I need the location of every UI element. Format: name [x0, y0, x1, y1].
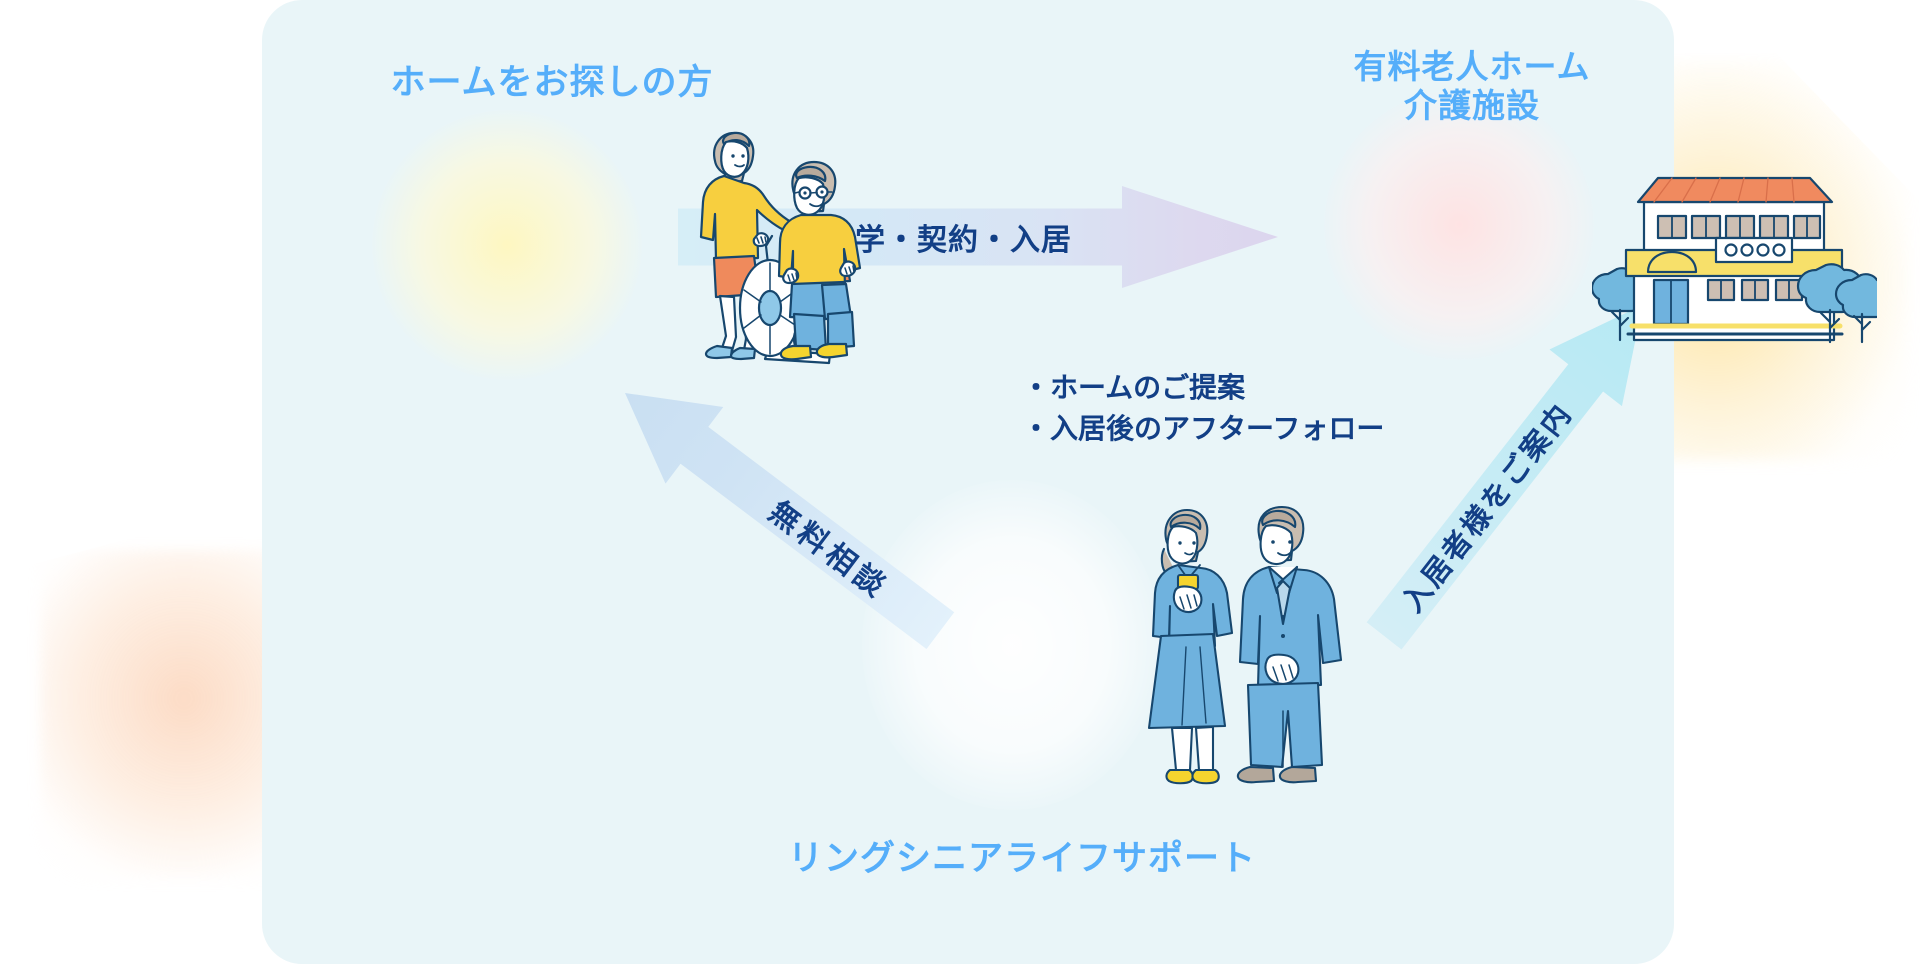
- elderly-couple-wheelchair-illustration: [662, 118, 877, 368]
- diagram-canvas: 見学・契約・入居 無料相談 入居者様をご案内 ・ホームのご提案 ・入居後のアフタ…: [0, 0, 1920, 964]
- arrow-left-diagonal-label: 無料相談: [596, 355, 969, 669]
- background-watercolor-left: [0, 520, 300, 964]
- glow-facility: [1324, 90, 1594, 360]
- peach-watercolor-blob: [40, 550, 300, 880]
- support-staff-couple-illustration: [1142, 505, 1347, 795]
- service-list-item: ・ホームのご提案: [1022, 368, 1452, 409]
- care-facility-building-illustration: [1592, 162, 1877, 352]
- node-title-facility: 有料老人ホーム 介護施設: [1262, 48, 1682, 126]
- glow-seeker: [372, 110, 642, 380]
- service-list: ・ホームのご提案 ・入居後のアフターフォロー: [1022, 368, 1452, 449]
- diagram-panel: 見学・契約・入居 無料相談 入居者様をご案内 ・ホームのご提案 ・入居後のアフタ…: [262, 0, 1674, 964]
- node-title-seeker: ホームをお探しの方: [322, 62, 782, 103]
- service-list-item: ・入居後のアフターフォロー: [1022, 409, 1452, 450]
- node-title-company: リングシニアライフサポート: [742, 838, 1302, 879]
